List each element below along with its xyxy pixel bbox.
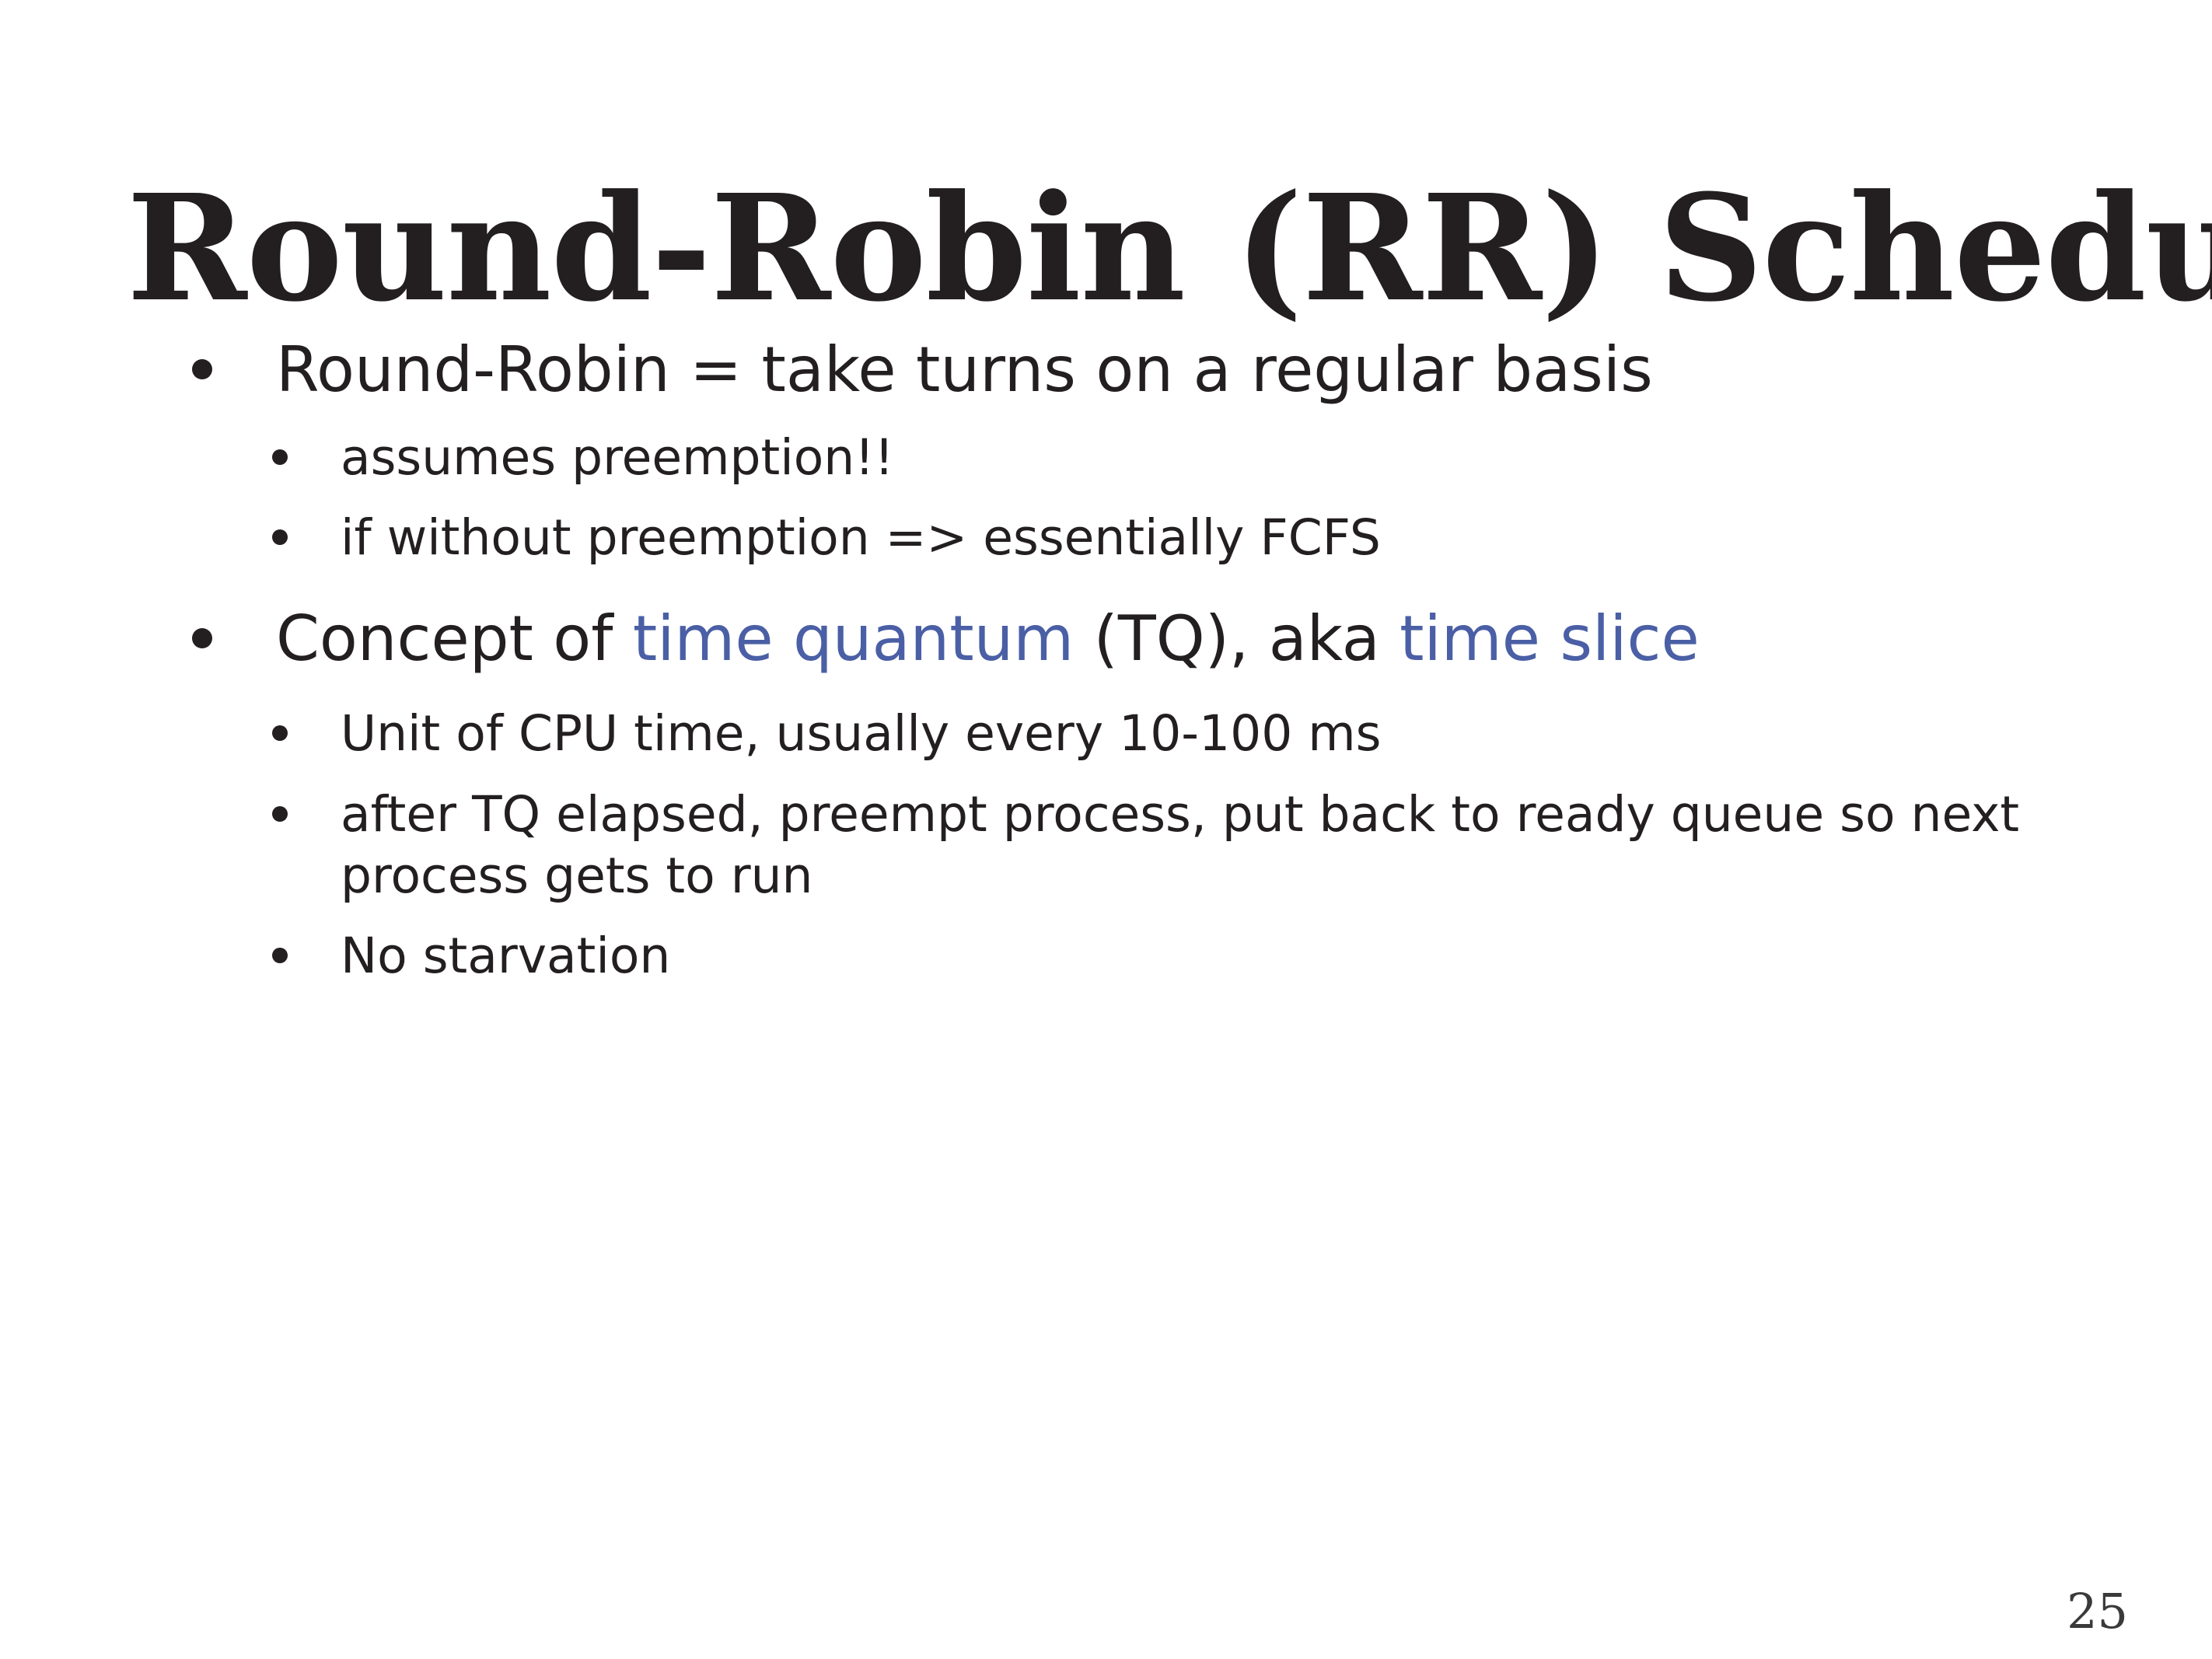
bullet-text-segment: (TQ), aka xyxy=(1074,602,1400,675)
bullet-text: if without preemption => essentially FCF… xyxy=(341,509,1381,566)
bullet-item: assumes preemption!! xyxy=(0,427,2212,488)
slide-canvas: Round-Robin (RR) Scheduling Round-Robin … xyxy=(0,0,2212,1659)
bullet-item: Concept of time quantum (TQ), aka time s… xyxy=(0,603,2212,676)
bullet-text: Concept of time quantum (TQ), aka time s… xyxy=(276,602,1700,675)
bullet-item: Round-Robin = take turns on a regular ba… xyxy=(0,334,2212,407)
bullet-text: assumes preemption!! xyxy=(341,429,894,486)
page-number: 25 xyxy=(2067,1587,2128,1636)
slide-body-content: Round-Robin = take turns on a regular ba… xyxy=(0,334,2212,1006)
bullet-dot-icon xyxy=(192,628,212,648)
bullet-item: if without preemption => essentially FCF… xyxy=(0,507,2212,568)
bullet-dot-icon xyxy=(272,725,288,741)
bullet-text: No starvation xyxy=(341,927,670,984)
bullet-text-segment: Concept of xyxy=(276,602,633,675)
bullet-text: Unit of CPU time, usually every 10-100 m… xyxy=(341,705,1382,762)
bullet-text-segment-accent: time quantum xyxy=(633,602,1074,675)
bullet-dot-icon xyxy=(192,359,212,379)
bullet-dot-icon xyxy=(272,529,288,545)
bullet-text: Round-Robin = take turns on a regular ba… xyxy=(276,334,1653,406)
bullet-item: No starvation xyxy=(0,925,2212,987)
bullet-dot-icon xyxy=(272,449,288,465)
bullet-item: after TQ elapsed, preempt process, put b… xyxy=(0,784,2212,907)
bullet-dot-icon xyxy=(272,948,288,963)
slide-title: Round-Robin (RR) Scheduling xyxy=(127,172,2128,325)
bullet-text-segment-accent: time slice xyxy=(1400,602,1700,675)
bullet-text: after TQ elapsed, preempt process, put b… xyxy=(341,786,2019,904)
bullet-item: Unit of CPU time, usually every 10-100 m… xyxy=(0,703,2212,764)
bullet-dot-icon xyxy=(272,806,288,822)
